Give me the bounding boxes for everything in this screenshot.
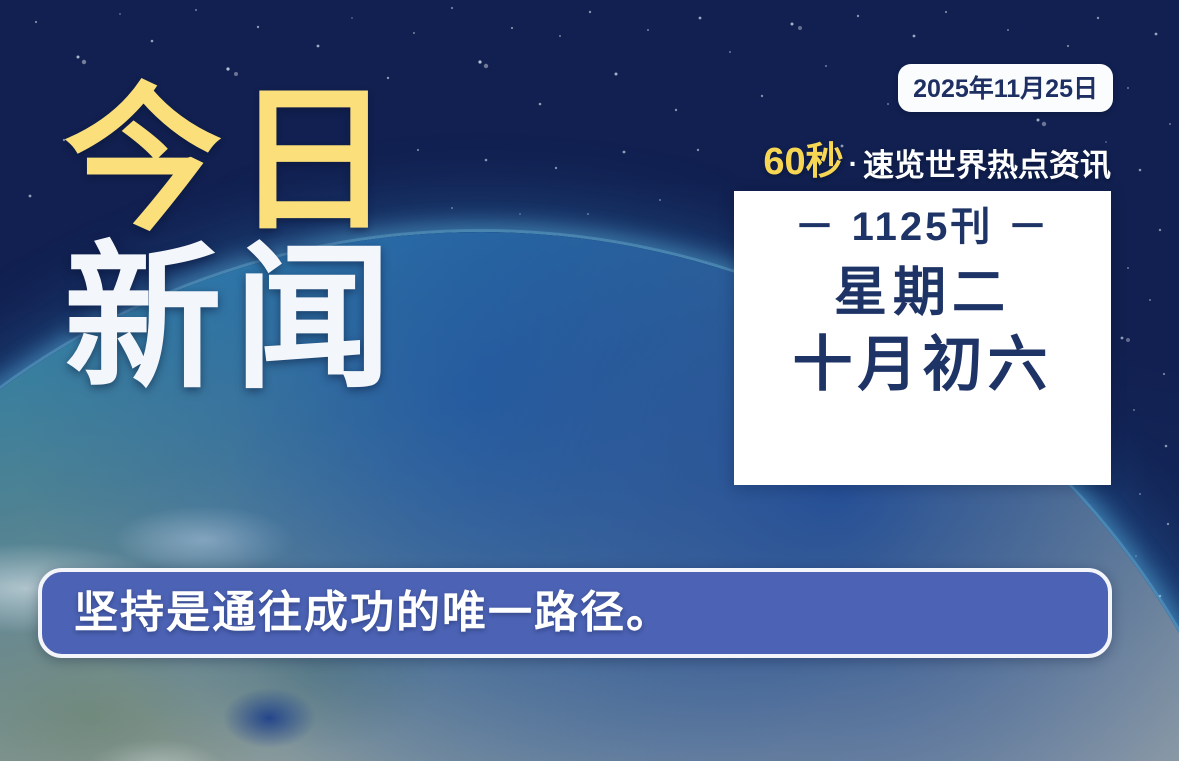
tagline-text: 速览世界热点资讯 bbox=[863, 150, 1111, 181]
quote-text: 坚持是通往成功的唯一路径。 bbox=[74, 591, 672, 635]
date-badge: 2025年11月25日 bbox=[898, 64, 1113, 112]
issue-info-card: － 1125刊 － 星期二 十月初六 bbox=[734, 191, 1111, 485]
page-title-line-2: 新闻 bbox=[64, 244, 404, 396]
tagline-seconds: 60秒 bbox=[763, 143, 843, 181]
tagline: 60秒 · 速览世界热点资讯 bbox=[763, 143, 1111, 181]
quote-banner: 坚持是通往成功的唯一路径。 bbox=[38, 568, 1112, 658]
tagline-separator-icon: · bbox=[849, 150, 858, 181]
issue-number: － 1125刊 － bbox=[794, 205, 1050, 249]
lunar-date-label: 十月初六 bbox=[793, 333, 1053, 396]
weekday-label: 星期二 bbox=[834, 265, 1011, 321]
page-title: 今日 新闻 bbox=[64, 86, 404, 395]
page-title-line-1: 今日 bbox=[64, 86, 404, 238]
news-poster: 今日 新闻 2025年11月25日 60秒 · 速览世界热点资讯 － 1125刊… bbox=[0, 0, 1179, 761]
